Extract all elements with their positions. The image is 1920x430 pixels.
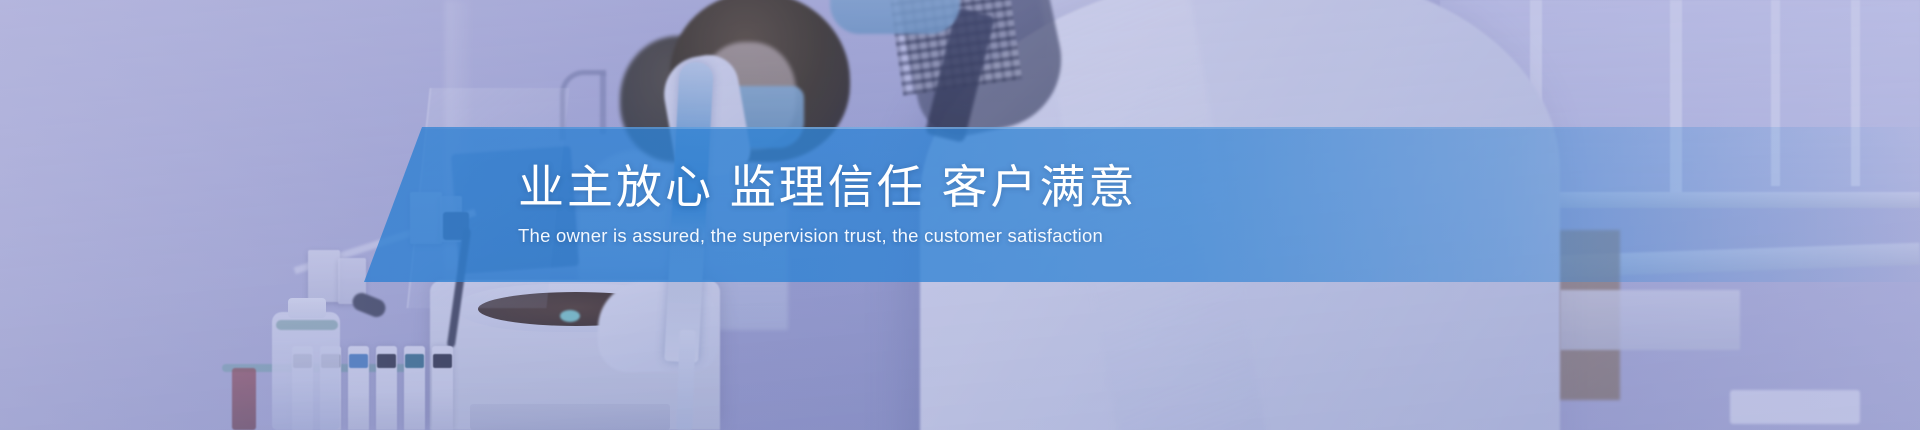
banner-subheadline: The owner is assured, the supervision tr…	[518, 225, 1103, 247]
banner-text-block: 业主放心 监理信任 客户满意 The owner is assured, the…	[0, 127, 1920, 282]
hero-banner: 业主放心 监理信任 客户满意 The owner is assured, the…	[0, 0, 1920, 430]
banner-headline: 业主放心 监理信任 客户满意	[518, 162, 1138, 214]
